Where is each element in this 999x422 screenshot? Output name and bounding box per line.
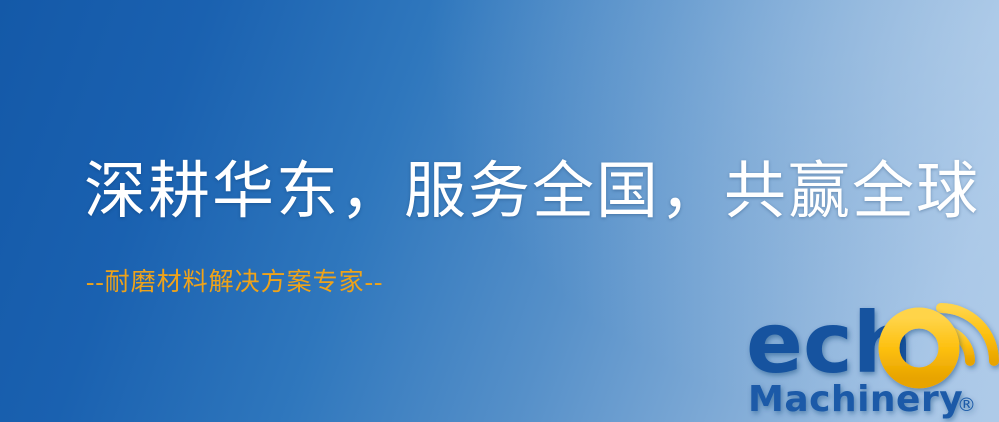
company-logo: ech Machinery ® — [742, 296, 999, 422]
logo-tagline: Machinery ® — [748, 379, 976, 420]
svg-text:®: ® — [957, 394, 976, 416]
logo-wordmark-o — [889, 318, 949, 378]
banner-headline: 深耕华东，服务全国，共赢全球 — [84, 155, 980, 229]
svg-text:Machinery: Machinery — [748, 379, 963, 420]
banner-subtitle: --耐磨材料解决方案专家-- — [86, 268, 383, 298]
hero-banner: 深耕华东，服务全国，共赢全球 --耐磨材料解决方案专家-- — [0, 0, 999, 422]
